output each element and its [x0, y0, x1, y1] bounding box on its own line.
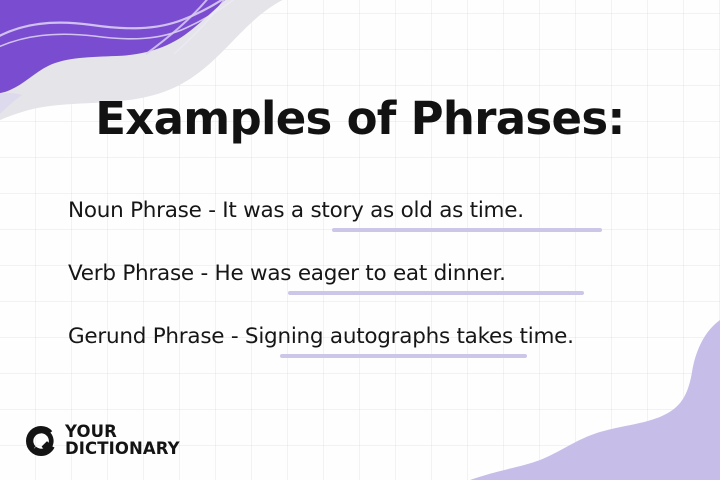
phrase-line-verb: Verb Phrase - He was eager to eat dinner… [68, 261, 506, 286]
yourdictionary-logo: YOUR DICTIONARY [26, 424, 180, 458]
page-title: Examples of Phrases: [0, 92, 720, 145]
phrase-underline-verb [288, 291, 584, 295]
phrase-underline-noun [332, 228, 602, 232]
swoosh-line-2 [0, 0, 248, 50]
purple-wave-shape [0, 0, 232, 94]
graph-paper-grid [0, 0, 720, 480]
phrase-line-noun: Noun Phrase - It was a story as old as t… [68, 198, 524, 223]
ring-q-icon [26, 426, 56, 456]
infographic-card: Examples of Phrases: Noun Phrase - It wa… [0, 0, 720, 480]
purple-wave-decoration [0, 0, 296, 174]
logo-wordmark: YOUR DICTIONARY [65, 424, 180, 458]
swoosh-line-4 [174, 0, 228, 54]
phrase-line-gerund: Gerund Phrase - Signing autographs takes… [68, 324, 574, 349]
logo-line-dictionary: DICTIONARY [65, 441, 180, 458]
swoosh-line-3 [146, 0, 210, 54]
phrase-underline-gerund [280, 354, 527, 358]
swoosh-line-1 [0, 0, 242, 40]
